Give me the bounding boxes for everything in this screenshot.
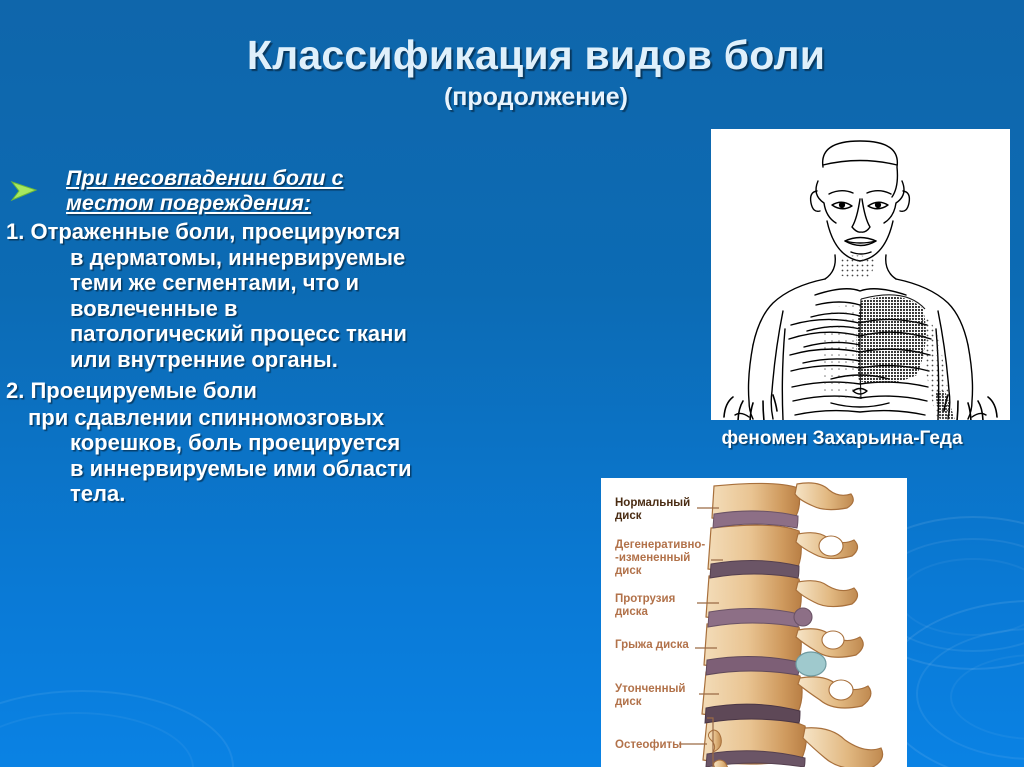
- item2-head: 2. Проецируемые боли: [6, 378, 257, 403]
- ripple-decoration-icon: [950, 654, 1024, 740]
- svg-text:диск: диск: [615, 510, 642, 522]
- svg-text:Протрузия: Протрузия: [615, 593, 675, 605]
- ripple-decoration-icon: [0, 712, 194, 767]
- svg-text:Дегенеративно-: Дегенеративно-: [615, 539, 705, 551]
- item2-line-1: корешков, боль проецируется: [6, 430, 600, 456]
- item2-number: 2.: [6, 378, 24, 403]
- lead-bullet-row: При несовпадении боли с местом поврежден…: [0, 166, 600, 215]
- svg-text:диска: диска: [615, 606, 649, 618]
- item1-line-3: вовлеченные в: [6, 296, 600, 322]
- numbered-item-2-continuation: при сдавлении спинномозговых корешков, б…: [0, 405, 600, 507]
- item1-line-5: или внутренние органы.: [6, 347, 600, 373]
- page-subtitle: (продолжение): [0, 83, 1024, 112]
- disc-herniation-marker: [796, 652, 826, 676]
- item1-line-4: патологический процесс ткани: [6, 321, 600, 347]
- page-title: Классификация видов боли: [0, 34, 1024, 77]
- item1-line-1: в дерматомы, иннервируемые: [6, 245, 600, 271]
- svg-text:-измененный: -измененный: [615, 552, 690, 564]
- item1-number: 1.: [6, 219, 24, 244]
- item1-line-2: теми же сегментами, что и: [6, 270, 600, 296]
- item2-sub-head: при сдавлении спинномозговых: [6, 405, 600, 431]
- figure-caption-torso: феномен Захарьина-Геда: [660, 428, 1024, 450]
- lead-statement: При несовпадении боли с местом поврежден…: [8, 166, 396, 215]
- slide-body-text: При несовпадении боли с местом поврежден…: [0, 166, 600, 507]
- ripple-decoration-icon: [916, 628, 1024, 760]
- ripple-decoration-icon: [898, 558, 1024, 636]
- item2-line-2: в иннервируемые ими области: [6, 456, 600, 482]
- lumbar-spine-disc-degeneration-diagram: Нормальный диск Дегенеративно- -измененн…: [601, 478, 907, 767]
- green-arrow-bullet-icon: [10, 180, 40, 207]
- item2-line-3: тела.: [6, 481, 600, 507]
- slide-title-block: Классификация видов боли (продолжение): [0, 34, 1024, 112]
- svg-text:диск: диск: [615, 565, 642, 577]
- item2-head-text: Проецируемые боли: [30, 378, 256, 403]
- item1-head: 1. Отраженные боли, проецируются: [6, 219, 400, 244]
- item1-head-text: Отраженные боли, проецируются: [30, 219, 400, 244]
- svg-text:Остеофиты: Остеофиты: [615, 739, 682, 751]
- ripple-decoration-icon: [0, 690, 234, 767]
- svg-text:Грыжа диска: Грыжа диска: [615, 639, 689, 651]
- disc-protrusion-marker: [794, 608, 812, 626]
- presentation-slide: Классификация видов боли (продолжение) П…: [0, 0, 1024, 767]
- numbered-item-2: 2. Проецируемые боли: [0, 378, 600, 404]
- svg-text:Нормальный: Нормальный: [615, 497, 690, 509]
- numbered-item-1: 1. Отраженные боли, проецируются в дерма…: [0, 219, 600, 372]
- svg-text:Утонченный: Утонченный: [615, 683, 685, 695]
- dermatome-referred-pain-diagram: [711, 129, 1010, 420]
- svg-text:диск: диск: [615, 696, 642, 708]
